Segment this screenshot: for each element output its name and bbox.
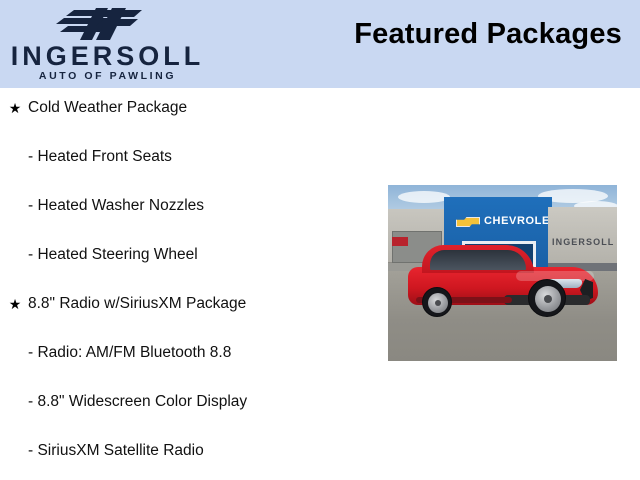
car-windows	[430, 250, 526, 270]
dealer-logo[interactable]: INGERSOLL AUTO OF PAWLING	[0, 2, 215, 86]
vehicle-photo[interactable]: CHEVROLET INGERSOLL	[388, 185, 617, 361]
list-item: - SiriusXM Satellite Radio	[0, 439, 204, 463]
ingersoll-wing-emblem	[52, 6, 144, 42]
feature-label: - Heated Steering Wheel	[28, 246, 198, 264]
vehicle-suv	[408, 245, 598, 317]
wheel-hub	[435, 300, 441, 306]
cloud	[398, 191, 450, 203]
feature-label: - Heated Front Seats	[28, 148, 172, 166]
dealer-wordmark: INGERSOLL	[0, 42, 215, 70]
car-rear-wheel	[422, 287, 452, 317]
car-front-wheel	[528, 279, 566, 317]
list-item: ★ Cold Weather Package	[0, 96, 187, 120]
list-item: - Heated Front Seats	[0, 145, 172, 169]
star-bullet-icon: ★	[6, 96, 24, 120]
star-bullet-icon: ★	[6, 292, 24, 316]
feature-label: - Radio: AM/FM Bluetooth 8.8	[28, 344, 231, 362]
wheel-hub	[544, 295, 552, 303]
package-label: 8.8" Radio w/SiriusXM Package	[28, 295, 246, 313]
feature-label: - 8.8" Widescreen Color Display	[28, 393, 247, 411]
header-band: INGERSOLL AUTO OF PAWLING Featured Packa…	[0, 0, 640, 88]
list-item: ★ 8.8" Radio w/SiriusXM Package	[0, 292, 246, 316]
list-item: - Heated Washer Nozzles	[0, 194, 204, 218]
red-sign	[392, 237, 408, 246]
dealer-tagline: AUTO OF PAWLING	[0, 70, 215, 82]
feature-list: ★ Cold Weather Package - Heated Front Se…	[0, 88, 380, 480]
slide-root: INGERSOLL AUTO OF PAWLING Featured Packa…	[0, 0, 640, 480]
page-title: Featured Packages	[354, 18, 622, 51]
feature-label: - SiriusXM Satellite Radio	[28, 442, 204, 460]
feature-label: - Heated Washer Nozzles	[28, 197, 204, 215]
chevrolet-bowtie-icon	[456, 217, 480, 227]
dealership-sign-text: CHEVROLET	[484, 215, 557, 227]
list-item: - Heated Steering Wheel	[0, 243, 198, 267]
list-item: - 8.8" Widescreen Color Display	[0, 390, 247, 414]
package-label: Cold Weather Package	[28, 99, 187, 117]
list-item: - Radio: AM/FM Bluetooth 8.8	[0, 341, 231, 365]
